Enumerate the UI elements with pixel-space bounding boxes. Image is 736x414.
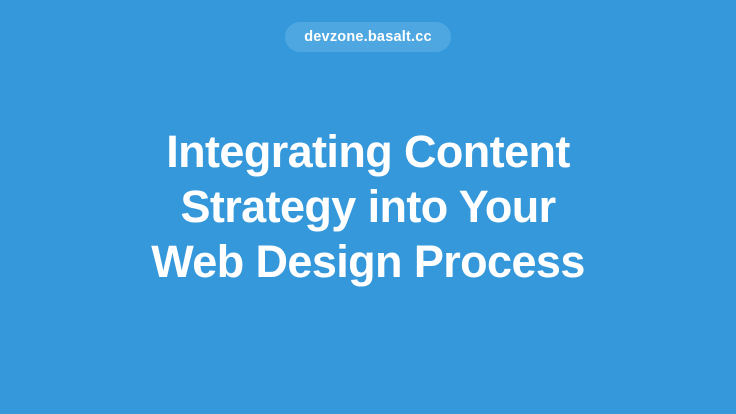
headline-line-1: Integrating Content	[40, 124, 696, 179]
domain-badge[interactable]: devzone.basalt.cc	[285, 22, 451, 52]
share-card: devzone.basalt.cc Integrating Content St…	[0, 0, 736, 414]
headline-line-2: Strategy into Your	[40, 179, 696, 234]
domain-badge-row: devzone.basalt.cc	[0, 22, 736, 52]
headline-line-3: Web Design Process	[40, 234, 696, 289]
headline: Integrating Content Strategy into Your W…	[0, 124, 736, 289]
domain-badge-label: devzone.basalt.cc	[304, 22, 432, 52]
